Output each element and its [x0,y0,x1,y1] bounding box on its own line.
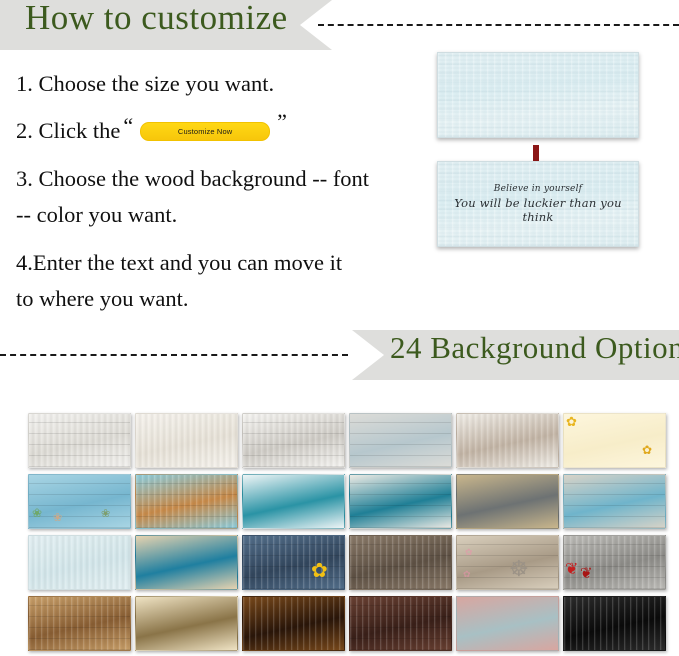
step-3-line-2: -- color you want. [16,197,396,233]
blank-wood-sign-preview[interactable] [437,52,639,138]
dashed-connector-top [318,24,679,26]
swatch-white-wood-with-dark-streaks[interactable] [242,413,345,468]
quote-open: “ [123,115,133,137]
step-2-prefix: 2. Click the [16,113,120,149]
swatch-pastel-multicolor-stripes[interactable] [456,596,559,651]
swatch-navy-wood-with-sunflower[interactable]: ✿ [242,535,345,590]
buddha-icon: ✿ [465,548,473,557]
swatch-light-cream-plank-wood[interactable] [135,413,238,468]
swatch-warm-honey-oak-plank[interactable] [28,596,131,651]
buddha-icon: ☸ [509,558,529,580]
step-2: 2. Click the “ Customize Now ” [16,113,396,149]
swatch-white-plank-over-teal-wave[interactable] [349,474,452,529]
coral-icon: ❀ [32,507,42,519]
quote-close: ” [277,111,287,133]
swatch-cream-sunflower-border[interactable]: ✿✿ [563,413,666,468]
swatch-vintage-parchment[interactable] [135,596,238,651]
coral-icon: ❀ [101,509,110,520]
swatch-teal-orange-peeling-paint[interactable] [135,474,238,529]
swatch-turquoise-sea-foam[interactable] [242,474,345,529]
swatch-grey-blue-brick-plank[interactable] [349,413,452,468]
sunflowers-icon: ✿ [642,444,652,456]
swatch-black-charcoal-wood[interactable] [563,596,666,651]
background-options-grid: ✿✿❀❀❀✿☸✿✿❦❦ [28,413,666,656]
swatch-pale-blue-smooth-wood[interactable] [28,535,131,590]
swatch-golden-sunset-seascape[interactable] [456,474,559,529]
swatch-deep-mahogany-plank[interactable] [349,596,452,651]
customization-preview: Believe in yourself You will be luckier … [432,52,642,247]
sunflowers-icon: ✿ [566,415,577,428]
sign-text-block: Believe in yourself You will be luckier … [438,184,638,224]
step-3: 3. Choose the wood background -- font --… [16,161,396,234]
poppies-icon: ❦ [580,567,593,582]
swatch-dark-taupe-barnwood[interactable] [349,535,452,590]
sign-text-line-2: You will be luckier than you think [438,196,638,224]
swatch-underwater-coral-reef[interactable]: ❀❀❀ [28,474,131,529]
sunflower-icon: ✿ [311,561,328,581]
background-options-title: 24 Background Options [390,330,679,366]
step-1: 1. Choose the size you want. [16,66,396,102]
coral-icon: ❀ [53,513,62,524]
buddha-icon: ✿ [463,570,471,579]
customized-wood-sign-preview[interactable]: Believe in yourself You will be luckier … [437,161,639,247]
page-title: How to customize [25,0,288,38]
sign-text-line-1: Believe in yourself [438,184,638,194]
swatch-whitewashed-plank-wood[interactable] [28,413,131,468]
swatch-grey-wood-with-red-poppies[interactable]: ❦❦ [563,535,666,590]
swatch-blue-weathered-plank-mix[interactable] [563,474,666,529]
customize-now-button[interactable]: Customize Now [140,122,270,141]
step-4-line-1: 4.Enter the text and you can move it [16,245,396,281]
swatch-ocean-wave-sandy-beach[interactable] [135,535,238,590]
poppies-icon: ❦ [565,562,578,578]
swatch-distressed-taupe-wood[interactable] [456,413,559,468]
swatch-dark-espresso-grain[interactable] [242,596,345,651]
step-4-line-2: to where you want. [16,281,396,317]
step-3-line-1: 3. Choose the wood background -- font [16,161,396,197]
step-4: 4.Enter the text and you can move it to … [16,245,396,318]
instruction-steps: 1. Choose the size you want. 2. Click th… [16,66,396,329]
swatch-buddha-zen-wood[interactable]: ☸✿✿ [456,535,559,590]
dashed-connector-bottom [0,354,348,356]
